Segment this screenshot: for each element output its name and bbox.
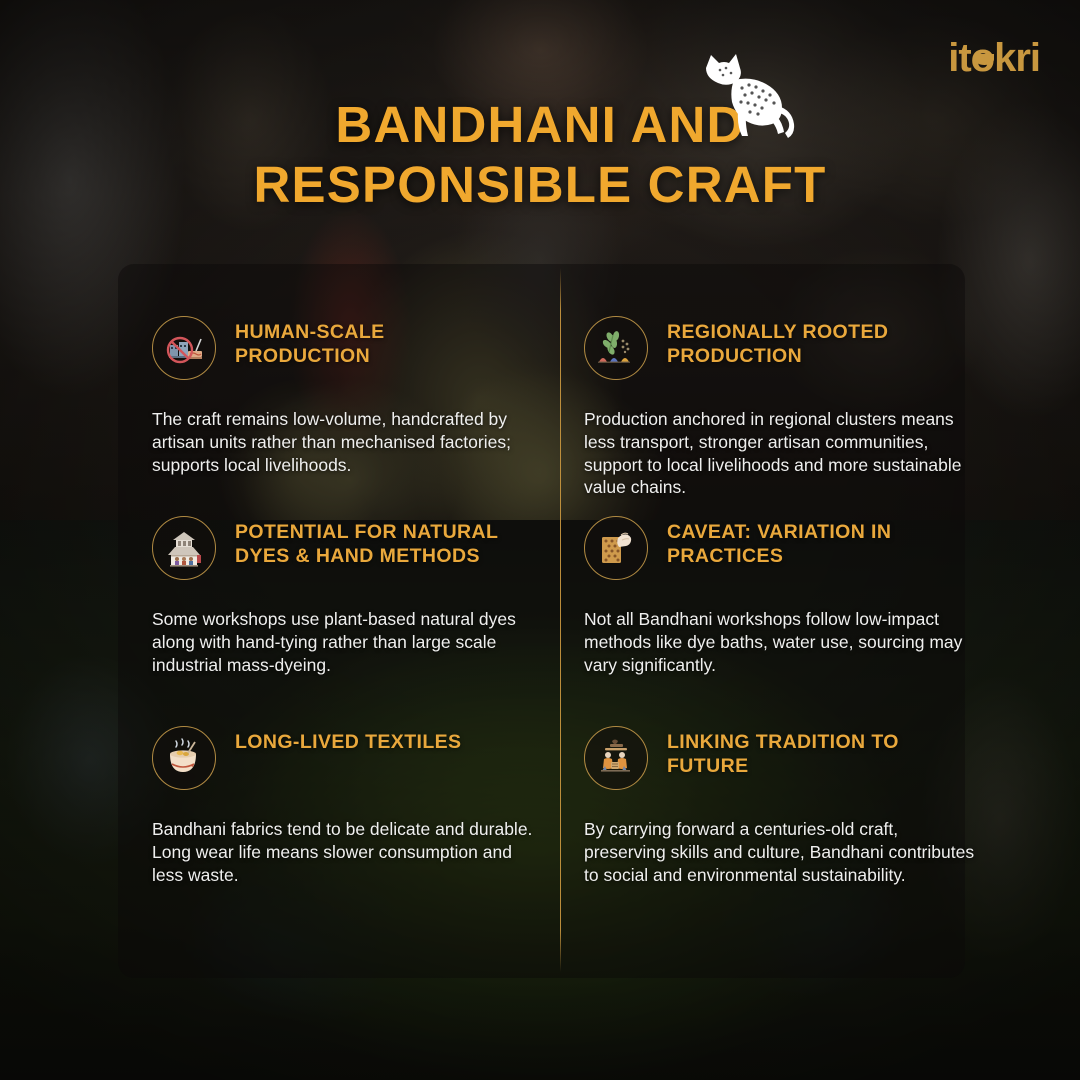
feature-header: LINKING TRADITION TO FUTURE [584,726,984,790]
feature-title: HUMAN-SCALE PRODUCTION [235,321,505,369]
feature-title: POTENTIAL FOR NATURAL DYES & HAND METHOD… [235,521,505,569]
brand-logo-text: itokri [948,38,1040,78]
feature-item-long-lived-textiles[interactable]: LONG-LIVED TEXTILES Bandhani fabrics ten… [152,726,537,886]
infographic-poster: itokri BANDHANI AND RESPONSIBLE CRAFT [0,0,1080,1080]
page-title-line-1: BANDHANI AND [0,95,1080,155]
two-artisans-working-icon [584,726,648,790]
feature-body: Production anchored in regional clusters… [584,408,984,499]
hand-holding-patterned-fabric-icon [584,516,648,580]
feature-body: By carrying forward a centuries-old craf… [584,818,984,886]
feature-item-human-scale-production[interactable]: HUMAN-SCALE PRODUCTION The craft remains… [152,316,537,476]
feature-body: Not all Bandhani workshops follow low-im… [584,608,984,676]
feature-title: LONG-LIVED TEXTILES [235,731,461,755]
brand-logo[interactable]: itokri [948,38,1040,78]
feature-header: CAVEAT: VARIATION IN PRACTICES [584,516,984,580]
feature-item-linking-tradition-to-future[interactable]: LINKING TRADITION TO FUTURE By carrying … [584,726,984,886]
page-title: BANDHANI AND RESPONSIBLE CRAFT [0,95,1080,215]
leaves-and-dye-powder-icon [584,316,648,380]
feature-item-potential-for-natural-dyes[interactable]: POTENTIAL FOR NATURAL DYES & HAND METHOD… [152,516,537,676]
feature-header: REGIONALLY ROOTED PRODUCTION [584,316,984,380]
no-factory-icon [152,316,216,380]
feature-body: The craft remains low-volume, handcrafte… [152,408,537,476]
feature-body: Some workshops use plant-based natural d… [152,608,537,676]
steaming-dye-pot-icon [152,726,216,790]
page-title-line-2: RESPONSIBLE CRAFT [0,155,1080,215]
feature-header: HUMAN-SCALE PRODUCTION [152,316,537,380]
feature-header: POTENTIAL FOR NATURAL DYES & HAND METHOD… [152,516,537,580]
feature-title: LINKING TRADITION TO FUTURE [667,731,957,779]
feature-item-caveat-variation-in-practices[interactable]: CAVEAT: VARIATION IN PRACTICES Not all B… [584,516,984,676]
artisan-workshop-building-icon [152,516,216,580]
feature-header: LONG-LIVED TEXTILES [152,726,537,790]
feature-body: Bandhani fabrics tend to be delicate and… [152,818,537,886]
feature-title: CAVEAT: VARIATION IN PRACTICES [667,521,957,569]
feature-title: REGIONALLY ROOTED PRODUCTION [667,321,957,369]
feature-item-regionally-rooted-production[interactable]: REGIONALLY ROOTED PRODUCTION Production … [584,316,984,499]
